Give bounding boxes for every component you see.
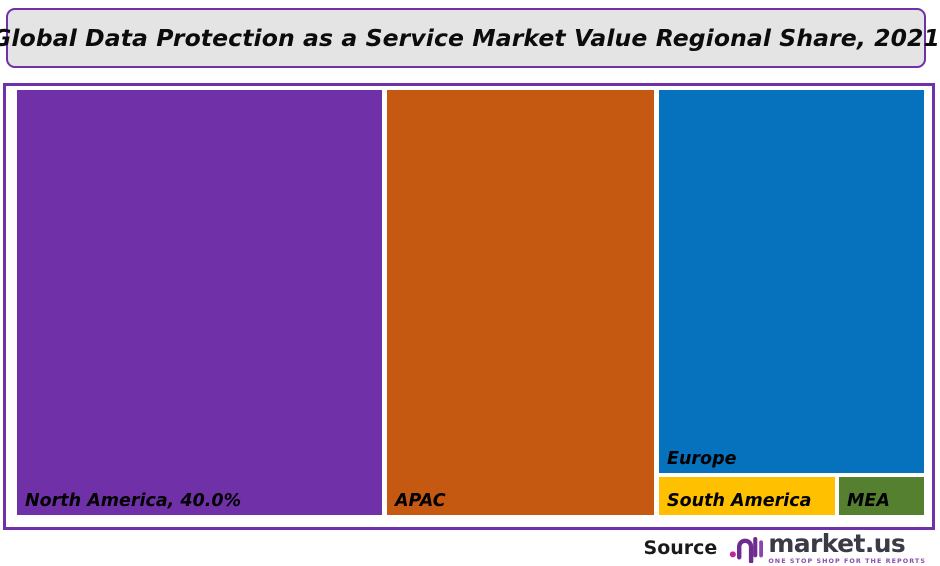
treemap-chart-panel: North America, 40.0% APAC Europe South A… bbox=[3, 83, 935, 530]
treemap-cell-apac[interactable]: APAC bbox=[387, 90, 654, 515]
brand-tagline: ONE STOP SHOP FOR THE REPORTS bbox=[768, 558, 926, 564]
page-title: Global Data Protection as a Service Mark… bbox=[0, 24, 940, 52]
treemap-label-south-america: South America bbox=[667, 491, 811, 511]
treemap-cell-europe[interactable]: Europe bbox=[659, 90, 924, 473]
treemap-label-apac: APAC bbox=[395, 491, 446, 511]
brand-name: market.us bbox=[768, 531, 926, 556]
market-us-bars-icon bbox=[729, 533, 763, 563]
treemap-cell-south-america[interactable]: South America bbox=[659, 477, 835, 515]
market-us-logo[interactable]: market.us ONE STOP SHOP FOR THE REPORTS bbox=[729, 531, 926, 564]
treemap-label-europe: Europe bbox=[667, 449, 736, 469]
treemap-cell-north-america[interactable]: North America, 40.0% bbox=[17, 90, 382, 515]
brand-text-block: market.us ONE STOP SHOP FOR THE REPORTS bbox=[768, 531, 926, 564]
chart-title-banner: Global Data Protection as a Service Mark… bbox=[6, 8, 926, 68]
treemap-cell-mea[interactable]: MEA bbox=[839, 477, 924, 515]
treemap-label-north-america: North America, 40.0% bbox=[25, 491, 241, 511]
source-label: Source bbox=[644, 537, 718, 559]
footer-source-bar: Source market.us ONE STOP SHOP FOR THE R… bbox=[0, 530, 940, 566]
treemap-label-mea: MEA bbox=[847, 491, 890, 511]
